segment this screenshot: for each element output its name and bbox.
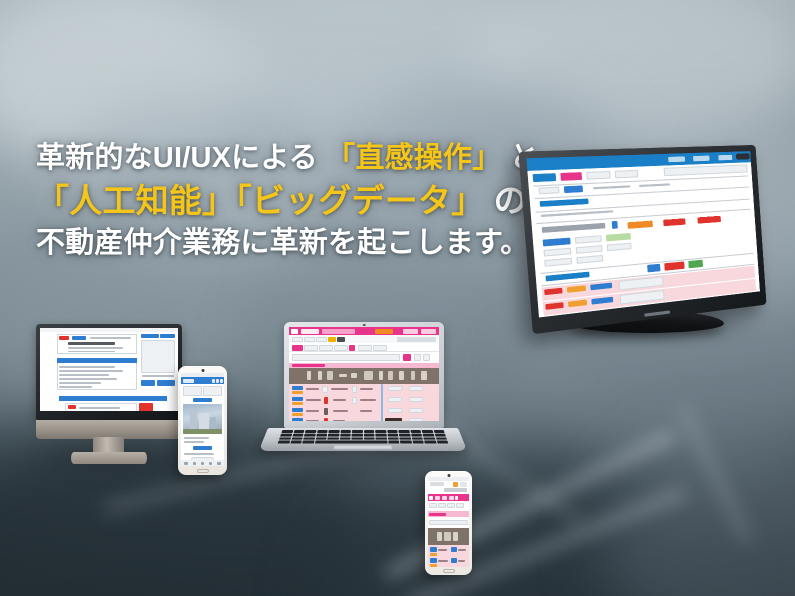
room-icon[interactable] <box>352 386 357 393</box>
form-input-cell[interactable] <box>545 258 573 267</box>
room-status <box>292 402 303 405</box>
key[interactable] <box>327 437 338 440</box>
key[interactable] <box>364 434 375 437</box>
key[interactable] <box>351 437 362 440</box>
floorplan-icon[interactable] <box>411 371 415 380</box>
key[interactable] <box>281 430 293 433</box>
filter-chip[interactable] <box>358 345 372 351</box>
key[interactable] <box>339 437 350 440</box>
form-input-cell[interactable] <box>544 248 572 257</box>
preview-panel <box>141 340 176 373</box>
toolbar-button[interactable] <box>337 337 345 342</box>
key[interactable] <box>340 430 351 433</box>
phone-home-button[interactable] <box>197 469 209 473</box>
room-badge[interactable] <box>430 547 437 552</box>
tab-item[interactable] <box>587 171 611 180</box>
filter-chip[interactable] <box>447 503 455 508</box>
filter-add-button[interactable] <box>349 345 355 351</box>
pager-control[interactable] <box>444 488 468 492</box>
stepper-down[interactable] <box>414 354 422 361</box>
keyboard-row <box>279 437 447 440</box>
key[interactable] <box>422 434 434 437</box>
key[interactable] <box>436 441 448 444</box>
laptop-trackpad[interactable] <box>334 445 393 449</box>
header-title <box>301 329 319 334</box>
spacebar-key[interactable] <box>314 441 387 444</box>
key[interactable] <box>340 434 351 437</box>
key[interactable] <box>387 430 398 433</box>
headline-line-1-lead: 革新的なUI/UXによる <box>36 142 326 174</box>
key[interactable] <box>280 434 292 437</box>
laptop <box>268 322 458 472</box>
key[interactable] <box>279 437 291 440</box>
form-input-cell[interactable] <box>606 243 632 252</box>
keyboard-row <box>278 441 449 444</box>
header-button[interactable] <box>460 482 468 487</box>
key[interactable] <box>375 437 386 440</box>
search-input[interactable] <box>664 164 748 176</box>
headline-accent-ai-bigdata: 「人工知能」「ビッグデータ」 <box>36 182 484 219</box>
breadcrumb <box>430 482 444 486</box>
phone-screen[interactable] <box>428 477 469 567</box>
floorplan-icon[interactable] <box>444 532 451 541</box>
nav-search-icon[interactable] <box>193 462 196 465</box>
room-badge[interactable] <box>451 547 457 552</box>
portal-logo-suumo <box>628 221 653 229</box>
panel-tab[interactable] <box>160 334 175 338</box>
nav-message-icon[interactable] <box>209 462 212 465</box>
desktop-monitor <box>534 143 795 338</box>
panel-send-button[interactable] <box>157 380 175 386</box>
header-menu-item[interactable] <box>442 496 448 500</box>
key[interactable] <box>302 441 314 444</box>
section-title <box>540 198 589 206</box>
key[interactable] <box>398 430 409 433</box>
key[interactable] <box>422 430 433 433</box>
key[interactable] <box>387 437 398 440</box>
room-icon[interactable] <box>352 397 357 404</box>
logout-button[interactable] <box>735 153 749 160</box>
room-badge[interactable] <box>292 418 303 421</box>
key[interactable] <box>388 441 400 444</box>
more-icon[interactable] <box>220 379 223 383</box>
photo-building-shape <box>190 409 197 431</box>
key[interactable] <box>316 434 327 437</box>
board-cell <box>388 397 402 402</box>
key[interactable] <box>315 437 326 440</box>
headline-line-2: 「人工知能」「ビッグデータ」 の活用で <box>36 179 596 223</box>
key[interactable] <box>411 434 422 437</box>
menu-icon[interactable] <box>212 379 215 383</box>
header-menu-item[interactable] <box>421 329 436 334</box>
hero-banner: 革新的なUI/UXによる 「直感操作」 と 「人工知能」「ビッグデータ」 の活用… <box>0 0 795 596</box>
form-input-cell[interactable] <box>576 245 603 254</box>
toolbar-button[interactable] <box>304 337 315 342</box>
form-input-cell[interactable] <box>575 235 602 244</box>
notice-label <box>292 364 325 367</box>
panel-tab[interactable] <box>141 334 159 338</box>
key[interactable] <box>304 434 315 437</box>
browser-chrome <box>40 328 178 332</box>
room-badge[interactable] <box>292 397 303 401</box>
status-bar <box>428 477 469 481</box>
key[interactable] <box>292 434 304 437</box>
portal-label <box>542 223 605 233</box>
room-badge[interactable] <box>292 408 303 412</box>
phone-screen[interactable] <box>181 373 224 466</box>
app-title <box>183 379 194 383</box>
key[interactable] <box>399 434 410 437</box>
photo-foreground <box>183 429 223 434</box>
room-status <box>292 413 303 416</box>
results-title <box>546 272 590 282</box>
card-header <box>57 358 137 363</box>
row-icon[interactable] <box>595 312 601 317</box>
filter-chip[interactable] <box>438 503 446 508</box>
key[interactable] <box>387 434 398 437</box>
pager-button[interactable] <box>647 264 661 273</box>
mail-subject <box>68 342 115 345</box>
key[interactable] <box>278 441 290 444</box>
notice-label <box>429 513 445 516</box>
room-icon[interactable] <box>322 386 328 393</box>
key[interactable] <box>375 434 386 437</box>
phone-camera-icon <box>201 369 204 372</box>
toolbar-button[interactable] <box>292 337 303 342</box>
tab-active[interactable] <box>533 173 556 182</box>
header-breadcrumb <box>322 329 355 334</box>
floorplan-icon[interactable] <box>437 532 442 541</box>
key[interactable] <box>434 434 446 437</box>
form-label-cell <box>543 238 571 247</box>
nav-home-icon[interactable] <box>184 462 187 465</box>
filter-chip[interactable] <box>539 187 559 195</box>
room-status <box>430 564 437 567</box>
header-menu-item[interactable] <box>449 496 455 500</box>
key[interactable] <box>317 430 328 433</box>
floorplan-icon[interactable] <box>307 371 311 380</box>
filter-active[interactable] <box>292 345 303 351</box>
filter-chip[interactable] <box>304 345 318 351</box>
board-cell <box>409 408 423 413</box>
toolbar-highlight[interactable] <box>328 337 336 342</box>
key[interactable] <box>305 430 316 433</box>
header-alert-badge <box>375 329 393 334</box>
key[interactable] <box>400 441 412 444</box>
filter-chip[interactable] <box>429 503 437 508</box>
primary-button[interactable] <box>193 398 212 402</box>
room-badge[interactable] <box>430 558 437 563</box>
floorplan-icon[interactable] <box>351 373 357 378</box>
headline-accent-intuitive: 「直感操作」 <box>326 142 501 174</box>
floorplan-icon[interactable] <box>399 371 404 380</box>
portal-logo-yahoo <box>698 216 721 224</box>
header-menu-item[interactable] <box>668 156 685 162</box>
filter-chip[interactable] <box>334 345 348 351</box>
keyboard-row <box>280 434 446 437</box>
floorplan-icon[interactable] <box>379 371 383 380</box>
floorplan-icon[interactable] <box>339 374 347 377</box>
room-badge[interactable] <box>292 386 303 390</box>
laptop-camera-icon <box>363 324 366 327</box>
key[interactable] <box>352 434 363 437</box>
key[interactable] <box>293 430 304 433</box>
filter-chip[interactable] <box>373 345 387 351</box>
laptop-base <box>259 428 468 451</box>
key[interactable] <box>410 430 421 433</box>
floorplan-icon[interactable] <box>318 371 322 380</box>
key[interactable] <box>423 437 435 440</box>
row-cell <box>569 314 591 318</box>
search-button[interactable] <box>403 354 411 361</box>
export-button[interactable] <box>688 260 703 269</box>
headline-line-3: 不動産仲介業務に革新を起こします。 <box>36 224 596 263</box>
key[interactable] <box>328 434 339 437</box>
info-card <box>183 386 202 396</box>
smartphone-right <box>425 471 472 575</box>
laptop-shadow <box>278 454 450 468</box>
key[interactable] <box>411 437 423 440</box>
monitor-screen[interactable] <box>526 151 760 317</box>
floorplan-icon[interactable] <box>327 371 333 380</box>
imac-foot <box>71 452 147 464</box>
room-status <box>430 553 437 556</box>
tab-item[interactable] <box>615 170 638 179</box>
header-icon[interactable] <box>455 496 457 500</box>
alert-badge <box>453 482 459 487</box>
portal-toggle[interactable] <box>612 221 618 229</box>
chat-avatar <box>68 405 76 409</box>
panel-cancel-button[interactable] <box>141 380 155 386</box>
room-icon[interactable] <box>324 408 329 415</box>
form-status-cell <box>606 233 632 241</box>
laptop-screen[interactable] <box>289 327 439 421</box>
key[interactable] <box>399 437 410 440</box>
key[interactable] <box>412 441 424 444</box>
alert-badge <box>665 261 685 270</box>
toolbar-button[interactable] <box>316 337 327 342</box>
priority-badge <box>59 336 69 340</box>
floorplan-icon[interactable] <box>421 371 427 380</box>
keyboard-row <box>281 430 444 433</box>
headline: 革新的なUI/UXによる 「直感操作」 と 「人工知能」「ビッグデータ」 の活用… <box>36 139 596 263</box>
stepper-up[interactable] <box>423 354 431 361</box>
row-action[interactable] <box>547 317 565 318</box>
toolbar-pager[interactable] <box>397 337 436 342</box>
floorplan-icon[interactable] <box>453 532 458 541</box>
chat-attachment[interactable] <box>139 403 153 411</box>
key[interactable] <box>424 441 436 444</box>
key[interactable] <box>303 437 315 440</box>
board-cell <box>388 386 402 391</box>
key[interactable] <box>433 430 445 433</box>
board-cell <box>388 408 402 413</box>
board-cell <box>409 397 423 402</box>
key[interactable] <box>352 430 363 433</box>
monitor-bezel <box>518 145 766 334</box>
board-dark-cell <box>385 418 402 421</box>
share-icon[interactable] <box>216 379 219 383</box>
search-input[interactable] <box>292 354 400 361</box>
laptop-lid <box>284 322 444 428</box>
board-divider <box>381 384 383 421</box>
floorplan-icon[interactable] <box>364 371 373 380</box>
nav-profile-icon[interactable] <box>217 462 220 465</box>
laptop-keyboard[interactable] <box>278 430 449 443</box>
headline-line-1: 革新的なUI/UXによる 「直感操作」 と <box>36 139 596 178</box>
key[interactable] <box>290 441 302 444</box>
board-cell <box>409 418 423 421</box>
key[interactable] <box>291 437 303 440</box>
header-menu-item[interactable] <box>693 155 710 161</box>
smartphone-left <box>178 366 227 475</box>
board-cell <box>409 386 423 391</box>
imac-bezel <box>36 324 182 420</box>
search-button[interactable] <box>564 185 584 193</box>
header-menu-item[interactable] <box>403 329 418 334</box>
floorplan-icon[interactable] <box>388 371 393 380</box>
key[interactable] <box>364 430 375 433</box>
header-menu-item[interactable] <box>435 496 441 500</box>
key[interactable] <box>435 437 447 440</box>
chat-header <box>59 396 167 401</box>
room-badge[interactable] <box>451 558 457 563</box>
filter-chip[interactable] <box>456 503 464 508</box>
imac-screen[interactable] <box>40 328 178 411</box>
mail-tag <box>72 336 86 340</box>
search-input[interactable] <box>429 520 468 525</box>
imac-desktop <box>36 324 188 464</box>
phone-home-button[interactable] <box>443 569 455 573</box>
nav-favorite-icon[interactable] <box>201 462 204 465</box>
form-input-cell[interactable] <box>576 255 603 264</box>
filter-chip[interactable] <box>319 345 333 351</box>
header-logo <box>429 496 433 500</box>
portal-logo-homes <box>664 218 686 226</box>
info-card <box>203 386 222 396</box>
key[interactable] <box>375 430 386 433</box>
key[interactable] <box>328 430 339 433</box>
room-status <box>292 391 303 394</box>
secondary-button[interactable] <box>193 446 212 450</box>
monitor-brand-logo <box>644 310 670 316</box>
tab-highlight[interactable] <box>560 172 582 181</box>
room-icon-alert[interactable] <box>324 397 329 404</box>
key[interactable] <box>364 437 375 440</box>
room-icon-alert[interactable] <box>324 418 329 421</box>
app-logo <box>291 329 299 334</box>
header-menu-item[interactable] <box>718 154 732 160</box>
